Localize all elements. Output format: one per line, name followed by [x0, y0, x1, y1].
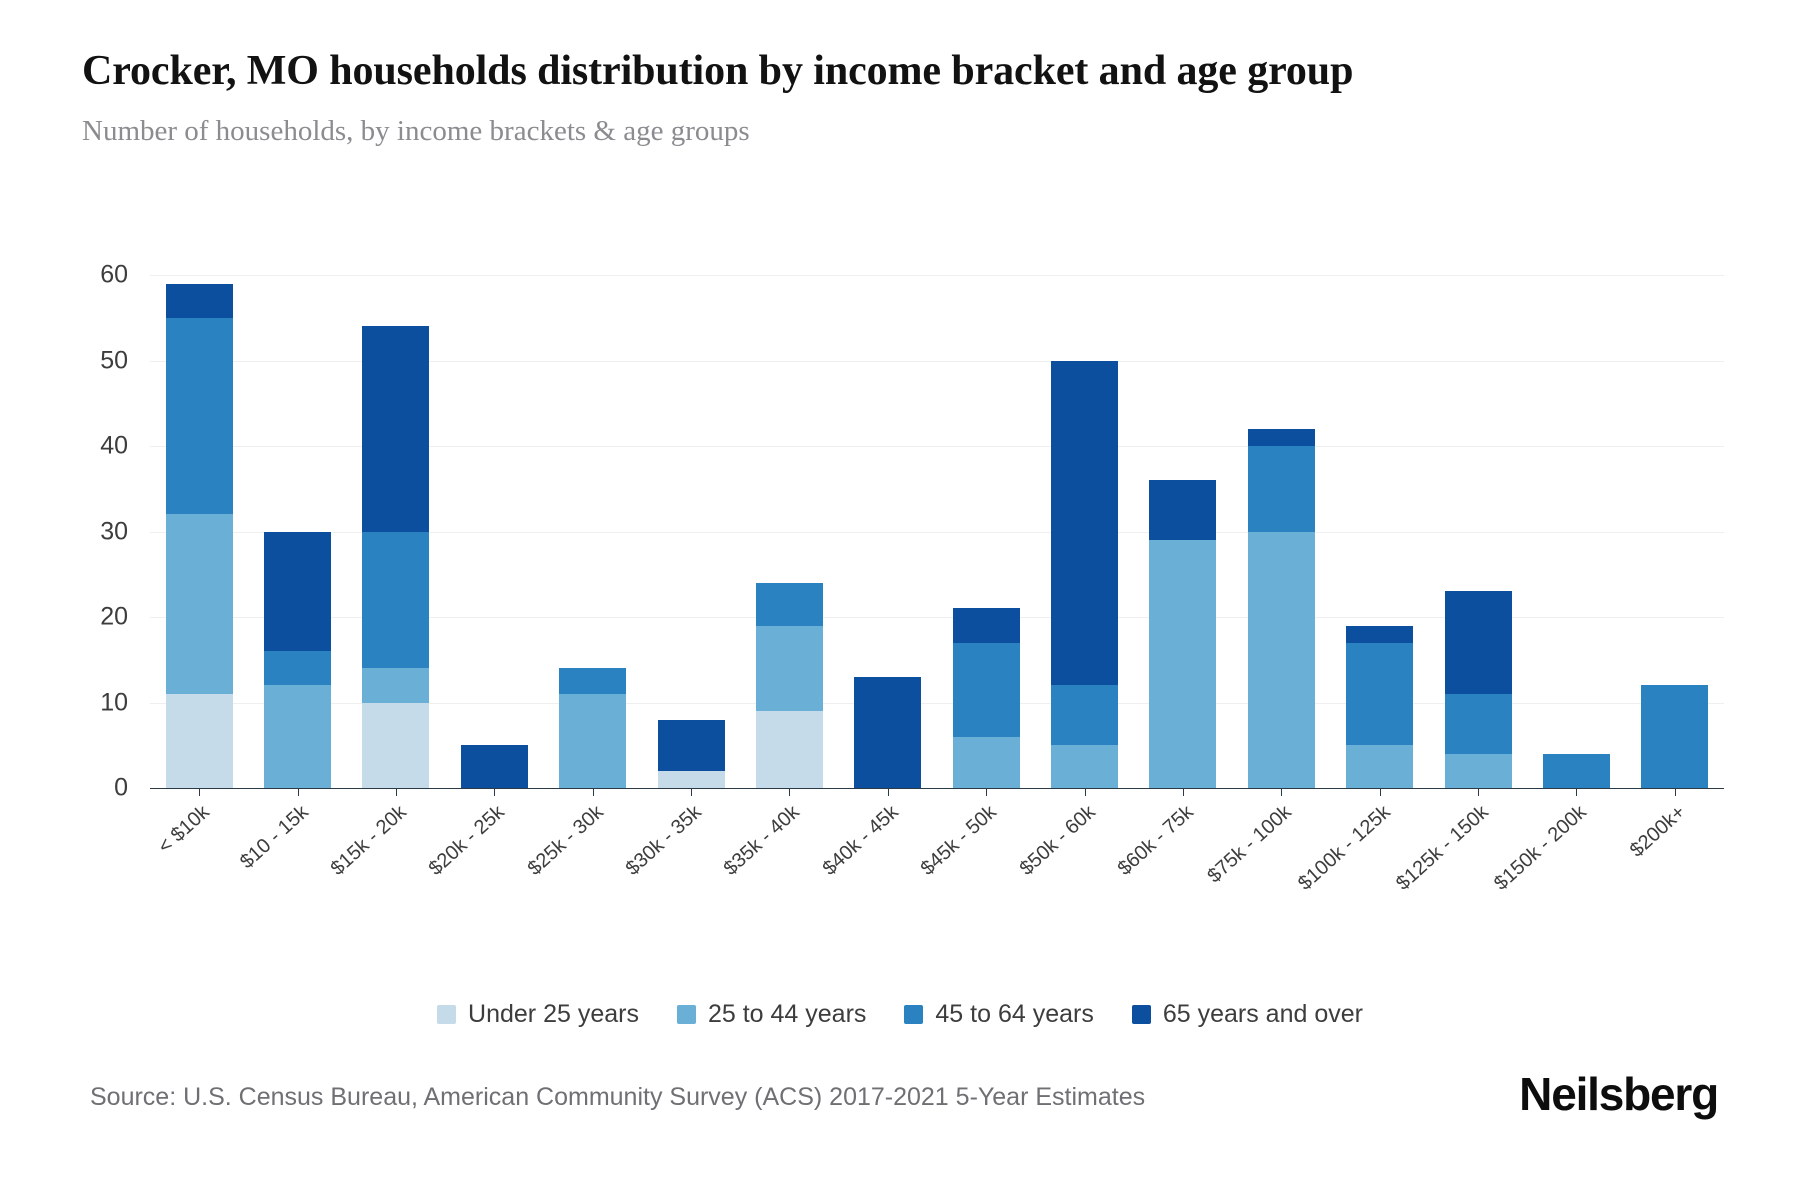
x-tick-mark — [396, 789, 397, 796]
x-tick-mark — [298, 789, 299, 796]
legend-item[interactable]: 45 to 64 years — [904, 1000, 1093, 1029]
legend-label: 25 to 44 years — [708, 1000, 866, 1029]
legend-swatch-icon — [904, 1005, 923, 1024]
chart-plot-area: 0102030405060 < $10k$10 - 15k$15k - 20k$… — [82, 275, 1724, 820]
x-axis-tick: $30k - 35k — [642, 789, 740, 909]
x-axis-tick: $25k - 30k — [544, 789, 642, 909]
y-axis-tick-label: 30 — [100, 517, 128, 546]
x-axis-tick: $35k - 40k — [740, 789, 838, 909]
x-axis-tick: $60k - 75k — [1134, 789, 1232, 909]
y-axis-tick-label: 50 — [100, 346, 128, 375]
legend-swatch-icon — [1132, 1005, 1151, 1024]
y-axis-tick-label: 40 — [100, 432, 128, 461]
legend-label: Under 25 years — [468, 1000, 639, 1029]
brand-logo: Neilsberg — [1519, 1067, 1718, 1121]
x-axis-tick-label: $200k+ — [1626, 801, 1691, 862]
x-axis-tick: $40k - 45k — [839, 789, 937, 909]
chart-subtitle: Number of households, by income brackets… — [82, 115, 1642, 148]
y-axis-tick-label: 0 — [114, 774, 128, 803]
gridline — [150, 275, 1724, 276]
legend-label: 65 years and over — [1163, 1000, 1363, 1029]
y-axis-tick-label: 60 — [100, 261, 128, 290]
y-axis: 0102030405060 — [82, 275, 144, 788]
legend-label: 45 to 64 years — [935, 1000, 1093, 1029]
x-axis-tick: $45k - 50k — [937, 789, 1035, 909]
x-tick-mark — [199, 789, 200, 796]
legend-swatch-icon — [677, 1005, 696, 1024]
x-axis-tick: < $10k — [150, 789, 248, 909]
y-axis-tick-label: 20 — [100, 603, 128, 632]
x-axis-tick: $50k - 60k — [1035, 789, 1133, 909]
legend-item[interactable]: 65 years and over — [1132, 1000, 1363, 1029]
x-axis-tick: $200k+ — [1626, 789, 1724, 909]
x-tick-mark — [789, 789, 790, 796]
x-tick-mark — [691, 789, 692, 796]
x-tick-mark — [1478, 789, 1479, 796]
gridline — [150, 446, 1724, 447]
chart-footer: Source: U.S. Census Bureau, American Com… — [0, 1075, 1800, 1145]
gridline — [150, 617, 1724, 618]
gridline — [150, 532, 1724, 533]
x-tick-mark — [986, 789, 987, 796]
x-tick-mark — [1281, 789, 1282, 796]
x-axis-tick: $75k - 100k — [1232, 789, 1330, 909]
gridline — [150, 703, 1724, 704]
x-axis-tick: $10 - 15k — [248, 789, 346, 909]
legend-item[interactable]: Under 25 years — [437, 1000, 639, 1029]
x-tick-mark — [1183, 789, 1184, 796]
x-tick-mark — [888, 789, 889, 796]
x-tick-mark — [1085, 789, 1086, 796]
page-title: Crocker, MO households distribution by i… — [82, 46, 1582, 97]
chart-legend: Under 25 years25 to 44 years45 to 64 yea… — [0, 1000, 1800, 1029]
x-axis-labels: < $10k$10 - 15k$15k - 20k$20k - 25k$25k … — [150, 789, 1724, 909]
x-tick-mark — [1675, 789, 1676, 796]
x-tick-mark — [494, 789, 495, 796]
x-axis-tick: $125k - 150k — [1429, 789, 1527, 909]
x-axis-tick: $100k - 125k — [1331, 789, 1429, 909]
gridlines — [150, 275, 1724, 788]
x-axis-tick: $150k - 200k — [1527, 789, 1625, 909]
chart-page: Crocker, MO households distribution by i… — [0, 0, 1800, 1200]
legend-item[interactable]: 25 to 44 years — [677, 1000, 866, 1029]
y-axis-tick-label: 10 — [100, 688, 128, 717]
chart-header: Crocker, MO households distribution by i… — [82, 46, 1642, 148]
x-tick-mark — [1380, 789, 1381, 796]
x-axis-tick: $20k - 25k — [445, 789, 543, 909]
source-note: Source: U.S. Census Bureau, American Com… — [90, 1083, 1145, 1112]
x-tick-mark — [1576, 789, 1577, 796]
legend-swatch-icon — [437, 1005, 456, 1024]
gridline — [150, 361, 1724, 362]
x-tick-mark — [593, 789, 594, 796]
x-axis-tick-label: < $10k — [154, 801, 214, 859]
x-axis-tick: $15k - 20k — [347, 789, 445, 909]
